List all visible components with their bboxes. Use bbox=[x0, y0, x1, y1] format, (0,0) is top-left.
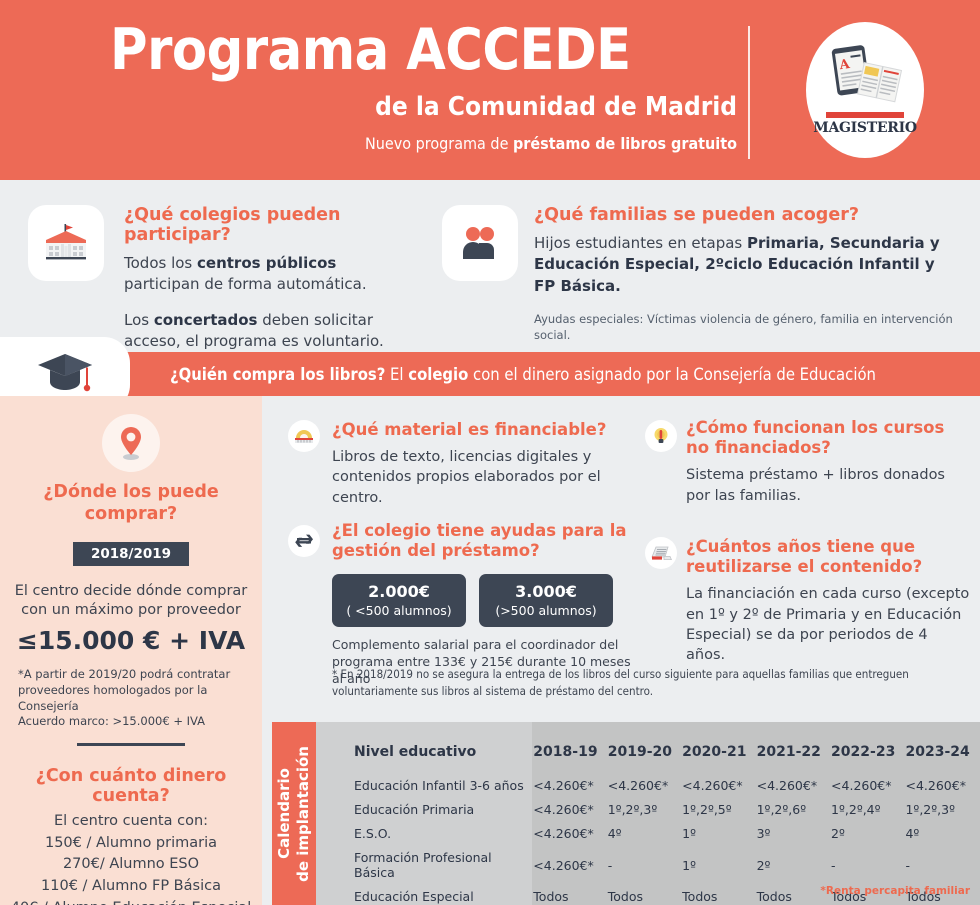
dinero-intro: El centro cuenta con: bbox=[0, 811, 262, 833]
tagline-bold: préstamo de libros gratuito bbox=[513, 134, 737, 153]
header-divider bbox=[748, 26, 750, 159]
donde-footnote: *A partir de 2019/20 podrá contratar pro… bbox=[0, 655, 262, 730]
cursos-body: Sistema préstamo + libros donados por la… bbox=[686, 465, 971, 506]
who-buys-banner: ¿Quién compra los libros? El colegio con… bbox=[122, 352, 980, 396]
block-reutilizar: ¿Cuántos años tiene que reutilizarse el … bbox=[686, 537, 971, 665]
block-material: ¿Qué material es financiable? Libros de … bbox=[332, 420, 627, 508]
left-column: ¿Dónde los puede comprar? 2018/2019 El c… bbox=[0, 396, 262, 905]
col-header-6: 2023-24 bbox=[905, 722, 980, 778]
table-header-row: Nivel educativo 2018-19 2019-20 2020-21 … bbox=[316, 722, 980, 778]
ayudas-heading: ¿El colegio tiene ayudas para la gestión… bbox=[332, 521, 627, 561]
renta-footnote: *Renta percapita familiar bbox=[820, 885, 970, 897]
colegios-paragraph-2: Los concertados deben solicitar acceso, … bbox=[124, 310, 434, 353]
table-row: E.S.O. <4.260€* 4º 1º 3º 2º 4º bbox=[316, 826, 980, 850]
row-3-col-0: <4.260€* bbox=[533, 850, 607, 889]
block-ayudas: ¿El colegio tiene ayudas para la gestión… bbox=[332, 521, 627, 688]
row-3-col-3: 2º bbox=[757, 850, 831, 889]
colegios-p2-bold: concertados bbox=[154, 311, 258, 329]
row-0-col-0: <4.260€* bbox=[533, 778, 607, 802]
row-0-col-1: <4.260€* bbox=[608, 778, 682, 802]
row-3-col-2: 1º bbox=[682, 850, 756, 889]
books-stack-icon bbox=[650, 544, 672, 562]
max-amount: ≤15.000 € + IVA bbox=[0, 626, 262, 655]
row-0-level: Educación Infantil 3-6 años bbox=[316, 778, 533, 802]
col-header-0: Nivel educativo bbox=[316, 722, 533, 778]
row-1-col-5: 1º,2º,3º bbox=[905, 802, 980, 826]
protractor-icon bbox=[294, 427, 314, 445]
family-icon-tile bbox=[442, 205, 518, 281]
calendar-side-label: Calendario de implantación bbox=[272, 722, 316, 905]
ayudas-pill-0: 2.000€ ( <500 alumnos) bbox=[332, 574, 466, 627]
row-2-level: E.S.O. bbox=[316, 826, 533, 850]
row-4-level: Educación Especial bbox=[316, 889, 533, 905]
colegios-p2-prefix: Los bbox=[124, 311, 154, 329]
familias-heading: ¿Qué familias se pueden acoger? bbox=[534, 205, 954, 225]
row-3-col-1: - bbox=[608, 850, 682, 889]
row-3-level: Formación Profesional Básica bbox=[316, 850, 533, 889]
dinero-line-2: 110€ / Alumno FP Básica bbox=[0, 876, 262, 898]
ayudas-pill-row: 2.000€ ( <500 alumnos) 3.000€ (>500 alum… bbox=[332, 574, 627, 627]
col-header-3: 2020-21 bbox=[682, 722, 756, 778]
row-1-col-0: <4.260€* bbox=[533, 802, 607, 826]
familias-p-prefix: Hijos estudiantes en etapas bbox=[534, 234, 747, 252]
row-2-col-0: <4.260€* bbox=[533, 826, 607, 850]
infographic-page: Programa ACCEDE de la Comunidad de Madri… bbox=[0, 0, 980, 905]
dinero-line-1: 270€/ Alumno ESO bbox=[0, 854, 262, 876]
row-2-col-3: 3º bbox=[757, 826, 831, 850]
lightbulb-icon-circle bbox=[645, 420, 677, 452]
page-subtitle: de la Comunidad de Madrid bbox=[375, 92, 737, 122]
row-0-col-3: <4.260€* bbox=[757, 778, 831, 802]
donde-heading: ¿Dónde los puede comprar? bbox=[0, 482, 262, 526]
page-title: Programa ACCEDE bbox=[110, 22, 631, 79]
row-2-col-1: 4º bbox=[608, 826, 682, 850]
ayudas-pill-1-sub: (>500 alumnos) bbox=[479, 603, 613, 618]
protractor-icon-circle bbox=[288, 420, 320, 452]
lightbulb-icon bbox=[651, 426, 671, 446]
ayudas-pill-0-sub: ( <500 alumnos) bbox=[332, 603, 466, 618]
row-2-col-5: 4º bbox=[905, 826, 980, 850]
row-0-col-5: <4.260€* bbox=[905, 778, 980, 802]
map-pin-icon bbox=[116, 425, 146, 461]
row-3-col-5: - bbox=[905, 850, 980, 889]
familias-note: Ayudas especiales: Víctimas violencia de… bbox=[534, 311, 954, 343]
row-1-col-3: 1º,2º,6º bbox=[757, 802, 831, 826]
material-body: Libros de texto, licencias digitales y c… bbox=[332, 447, 627, 508]
familias-paragraph: Hijos estudiantes en etapas Primaria, Se… bbox=[534, 233, 954, 297]
page-tagline: Nuevo programa de préstamo de libros gra… bbox=[365, 134, 737, 153]
col-header-2: 2019-20 bbox=[608, 722, 682, 778]
row-1-col-4: 1º,2º,4º bbox=[831, 802, 905, 826]
row-1-col-2: 1º,2º,5º bbox=[682, 802, 756, 826]
ayudas-pill-1-amount: 3.000€ bbox=[479, 582, 613, 601]
col-header-4: 2021-22 bbox=[757, 722, 831, 778]
row-1-level: Educación Primaria bbox=[316, 802, 533, 826]
colegios-p1-prefix: Todos los bbox=[124, 254, 197, 272]
row-2-col-4: 2º bbox=[831, 826, 905, 850]
cursos-heading: ¿Cómo funcionan los cursos no financiado… bbox=[686, 418, 971, 458]
row-2-col-2: 1º bbox=[682, 826, 756, 850]
exchange-icon-circle bbox=[288, 525, 320, 557]
colegios-heading: ¿Qué colegios pueden participar? bbox=[124, 205, 434, 245]
row-1-col-1: 1º,2º,3º bbox=[608, 802, 682, 826]
banner-answer-pre: El bbox=[385, 365, 408, 384]
block-colegios: ¿Qué colegios pueden participar? Todos l… bbox=[124, 205, 434, 352]
books-icon-circle bbox=[645, 537, 677, 569]
colegios-paragraph-1: Todos los centros públicos participan de… bbox=[124, 253, 434, 296]
calendar-side-label-text: Calendario de implantación bbox=[275, 746, 313, 882]
exchange-arrows-icon bbox=[294, 532, 314, 550]
block-familias: ¿Qué familias se pueden acoger? Hijos es… bbox=[534, 205, 954, 343]
banner-question: ¿Quién compra los libros? bbox=[170, 365, 385, 384]
banner-answer-bold: colegio bbox=[408, 365, 468, 384]
row-0-col-2: <4.260€* bbox=[682, 778, 756, 802]
row-0-col-4: <4.260€* bbox=[831, 778, 905, 802]
graduation-cap-icon bbox=[34, 348, 96, 400]
dinero-list: El centro cuenta con: 150€ / Alumno prim… bbox=[0, 811, 262, 905]
header-banner: Programa ACCEDE de la Comunidad de Madri… bbox=[0, 0, 980, 180]
dinero-heading: ¿Con cuánto dinero cuenta? bbox=[0, 766, 262, 806]
banner-text: ¿Quién compra los libros? El colegio con… bbox=[170, 365, 876, 384]
magisterio-logo: A bbox=[806, 22, 924, 158]
logo-rule bbox=[826, 112, 904, 118]
row-4-col-2: Todos bbox=[682, 889, 756, 905]
donde-paragraph: El centro decide dónde comprar con un má… bbox=[0, 582, 262, 621]
logo-artwork-icon: A bbox=[827, 44, 903, 110]
left-divider bbox=[77, 743, 185, 746]
ayudas-pill-0-amount: 2.000€ bbox=[332, 582, 466, 601]
year-badge: 2018/2019 bbox=[73, 542, 189, 566]
map-pin-circle bbox=[102, 414, 160, 472]
logo-wordmark: MAGISTERIO bbox=[813, 120, 916, 136]
banner-answer-post: con el dinero asignado por la Consejería… bbox=[468, 365, 876, 384]
col-header-5: 2022-23 bbox=[831, 722, 905, 778]
table-row: Formación Profesional Básica <4.260€* - … bbox=[316, 850, 980, 889]
row-4-col-1: Todos bbox=[608, 889, 682, 905]
tagline-prefix: Nuevo programa de bbox=[365, 134, 513, 153]
row-4-col-0: Todos bbox=[533, 889, 607, 905]
col-header-1: 2018-19 bbox=[533, 722, 607, 778]
material-heading: ¿Qué material es financiable? bbox=[332, 420, 627, 440]
calendar-table: Nivel educativo 2018-19 2019-20 2020-21 … bbox=[316, 722, 980, 905]
row-3-col-4: - bbox=[831, 850, 905, 889]
reutilizar-heading: ¿Cuántos años tiene que reutilizarse el … bbox=[686, 537, 971, 577]
table-row: Educación Infantil 3-6 años <4.260€* <4.… bbox=[316, 778, 980, 802]
school-icon-tile bbox=[28, 205, 104, 281]
family-icon bbox=[458, 224, 502, 262]
ayudas-pill-1: 3.000€ (>500 alumnos) bbox=[479, 574, 613, 627]
general-footnote: * En 2018/2019 no se asegura la entrega … bbox=[332, 666, 947, 699]
school-icon bbox=[42, 223, 90, 263]
colegios-p1-bold: centros públicos bbox=[197, 254, 336, 272]
colegios-p1-post: participan de forma automática. bbox=[124, 275, 367, 293]
dinero-line-0: 150€ / Alumno primaria bbox=[0, 833, 262, 855]
block-cursos: ¿Cómo funcionan los cursos no financiado… bbox=[686, 418, 971, 506]
table-row: Educación Primaria <4.260€* 1º,2º,3º 1º,… bbox=[316, 802, 980, 826]
reutilizar-body: La financiación en cada curso (excepto e… bbox=[686, 584, 971, 665]
dinero-line-3: 40€ / Alumno Educación Especial bbox=[0, 898, 262, 905]
